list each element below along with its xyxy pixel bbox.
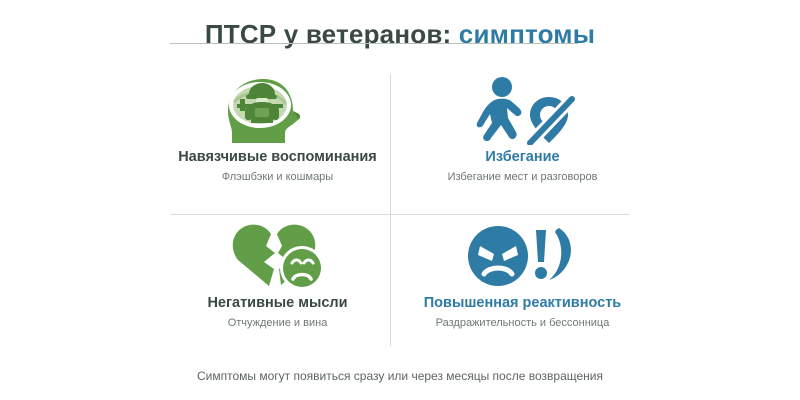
head-with-soldier-icon <box>170 72 385 148</box>
symptom-subtitle: Избегание мест и разговоров <box>415 169 630 185</box>
footer: Симптомы могут появиться сразу или через… <box>0 368 800 384</box>
header: ПТСР у ветеранов: симптомы <box>0 18 800 50</box>
symptom-cell-hyperarousal[interactable]: Повышенная реактивность Раздражительност… <box>415 218 630 354</box>
symptom-subtitle: Раздражительность и бессонница <box>415 315 630 331</box>
symptom-grid: Навязчивые воспоминания Флэшбэки и кошма… <box>170 72 630 350</box>
symptom-cell-intrusive-memories[interactable]: Навязчивые воспоминания Флэшбэки и кошма… <box>170 72 385 208</box>
symptom-label: Навязчивые воспоминания <box>170 148 385 166</box>
symptom-subtitle: Отчуждение и вина <box>170 315 385 331</box>
title-underline-divider <box>170 43 578 44</box>
horizontal-divider <box>170 214 630 215</box>
angry-face-exclamation-moon-icon <box>415 218 630 294</box>
page-title-main: ПТСР у ветеранов: <box>205 19 452 49</box>
symptom-cell-negative-thoughts[interactable]: Негативные мысли Отчуждение и вина <box>170 218 385 354</box>
infographic-slide: ПТСР у ветеранов: симптомы <box>0 0 800 400</box>
footer-note: Симптомы могут появиться сразу или через… <box>0 368 800 384</box>
symptom-cell-avoidance[interactable]: Избегание Избегание мест и разговоров <box>415 72 630 208</box>
symptom-label: Негативные мысли <box>170 294 385 312</box>
symptom-label: Избегание <box>415 148 630 166</box>
page-title-accent: симптомы <box>459 19 595 49</box>
page-title: ПТСР у ветеранов: симптомы <box>0 18 800 50</box>
symptom-subtitle: Флэшбэки и кошмары <box>170 169 385 185</box>
walking-person-no-location-icon <box>415 72 630 148</box>
broken-heart-sad-face-icon <box>170 218 385 294</box>
vertical-divider <box>390 74 391 346</box>
symptom-label: Повышенная реактивность <box>415 294 630 312</box>
